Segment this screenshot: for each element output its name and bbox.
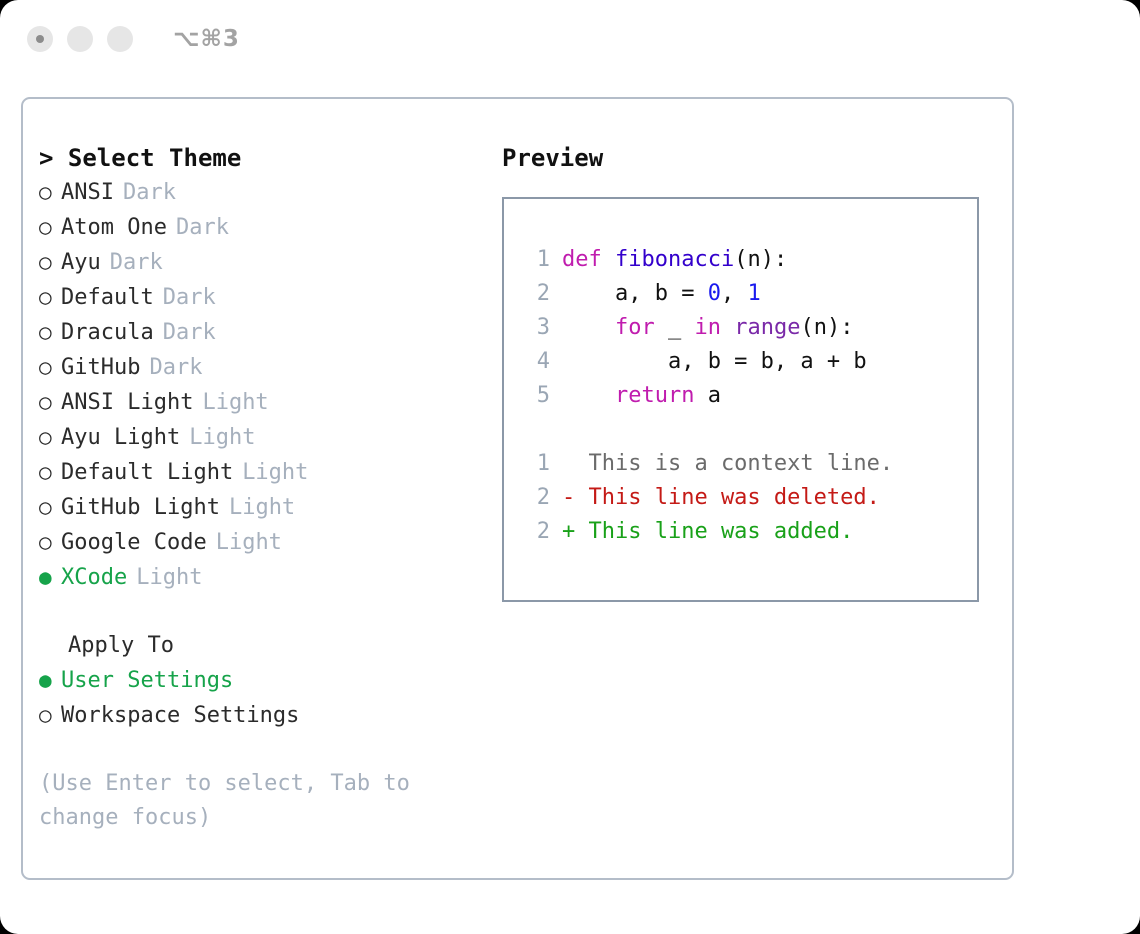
radio-selected-icon: ● [39, 663, 61, 697]
theme-option-default-light[interactable]: ○Default LightLight [39, 455, 479, 490]
code-token: _ [655, 315, 695, 340]
diff-preview: 1 This is a context line.2- This line wa… [504, 447, 977, 549]
code-preview: 1def fibonacci(n):2 a, b = 0, 13 for _ i… [504, 243, 977, 413]
theme-option-ayu[interactable]: ○AyuDark [39, 245, 479, 280]
code-token: range [734, 315, 800, 340]
code-line-content: return a [562, 379, 721, 413]
radio-unselected-icon: ○ [39, 698, 61, 732]
theme-option-kind: Light [189, 421, 255, 455]
code-diff-spacer [504, 413, 977, 447]
apply-to-option-user-settings[interactable]: ●User Settings [39, 663, 479, 698]
radio-unselected-icon: ○ [39, 525, 61, 559]
theme-option-kind: Dark [163, 316, 216, 350]
code-token: 1 [747, 281, 760, 306]
theme-list[interactable]: ○ANSIDark○Atom OneDark○AyuDark○DefaultDa… [39, 175, 479, 595]
theme-option-xcode[interactable]: ●XCodeLight [39, 560, 479, 595]
theme-option-kind: Light [242, 456, 308, 490]
line-number: 2 [522, 277, 550, 311]
code-token [562, 383, 615, 408]
code-line: 5 return a [504, 379, 977, 413]
code-token: , [721, 281, 748, 306]
radio-unselected-icon: ○ [39, 385, 61, 419]
code-token: return [615, 383, 694, 408]
line-number: 1 [522, 243, 550, 277]
code-line: 1def fibonacci(n): [504, 243, 977, 277]
theme-option-dracula[interactable]: ○DraculaDark [39, 315, 479, 350]
theme-option-kind: Dark [149, 351, 202, 385]
code-token: a [694, 383, 721, 408]
apply-to-option-label: Workspace Settings [61, 699, 299, 733]
line-number: 5 [522, 379, 550, 413]
code-token: for [615, 315, 655, 340]
radio-unselected-icon: ○ [39, 455, 61, 489]
theme-option-label: Default [61, 281, 154, 315]
radio-selected-icon: ● [39, 560, 61, 594]
radio-unselected-icon: ○ [39, 350, 61, 384]
theme-option-github-light[interactable]: ○GitHub LightLight [39, 490, 479, 525]
code-line-content: - This line was deleted. [562, 481, 880, 515]
code-token [721, 315, 734, 340]
theme-option-label: Default Light [61, 456, 233, 490]
code-token [562, 315, 615, 340]
radio-unselected-icon: ○ [39, 420, 61, 454]
theme-option-google-code[interactable]: ○Google CodeLight [39, 525, 479, 560]
code-token: a, b = [562, 281, 708, 306]
code-token: a, b = b, a + b [562, 349, 867, 374]
theme-option-kind: Light [136, 561, 202, 595]
code-token: (n): [734, 247, 787, 272]
traffic-light-close-icon[interactable] [27, 26, 53, 52]
theme-option-label: Google Code [61, 526, 207, 560]
code-token: 0 [708, 281, 721, 306]
select-theme-heading: > Select Theme [39, 141, 479, 175]
code-token: (n): [800, 315, 853, 340]
apply-to-heading: Apply To [39, 629, 479, 663]
window-titlebar: ⌥⌘3 [0, 0, 1140, 78]
theme-option-kind: Light [229, 491, 295, 525]
apply-to-list[interactable]: ●User Settings○Workspace Settings [39, 663, 479, 733]
code-line-content: a, b = b, a + b [562, 345, 867, 379]
keyboard-hint-text: (Use Enter to select, Tab to change focu… [39, 767, 449, 835]
app-window: ⌥⌘3 > Select Theme ○ANSIDark○Atom OneDar… [0, 0, 1140, 934]
code-line: 4 a, b = b, a + b [504, 345, 977, 379]
radio-unselected-icon: ○ [39, 315, 61, 349]
theme-selector-column: > Select Theme ○ANSIDark○Atom OneDark○Ay… [39, 141, 479, 835]
main-panel: > Select Theme ○ANSIDark○Atom OneDark○Ay… [21, 97, 1014, 880]
code-token: def [562, 247, 615, 272]
code-line-content: for _ in range(n): [562, 311, 853, 345]
code-line-content: + This line was added. [562, 515, 853, 549]
theme-option-kind: Dark [176, 211, 229, 245]
code-token: + This line was added. [562, 519, 853, 544]
keyboard-shortcut-label: ⌥⌘3 [173, 26, 240, 52]
line-number: 3 [522, 311, 550, 345]
theme-option-label: Atom One [61, 211, 167, 245]
code-line-content: a, b = 0, 1 [562, 277, 761, 311]
code-line: 2- This line was deleted. [504, 481, 977, 515]
code-line: 1 This is a context line. [504, 447, 977, 481]
code-line-content: def fibonacci(n): [562, 243, 787, 277]
radio-unselected-icon: ○ [39, 245, 61, 279]
theme-option-label: GitHub Light [61, 491, 220, 525]
line-number: 1 [522, 447, 550, 481]
section-spacer [39, 595, 479, 629]
preview-box: 1def fibonacci(n):2 a, b = 0, 13 for _ i… [502, 197, 979, 602]
hint-spacer [39, 733, 479, 767]
theme-option-label: Dracula [61, 316, 154, 350]
code-token: fibonacci [615, 247, 734, 272]
theme-option-atom-one[interactable]: ○Atom OneDark [39, 210, 479, 245]
theme-option-kind: Light [202, 386, 268, 420]
traffic-light-zoom-icon[interactable] [107, 26, 133, 52]
theme-option-github[interactable]: ○GitHubDark [39, 350, 479, 385]
theme-option-kind: Dark [123, 176, 176, 210]
code-token: - This line was deleted. [562, 485, 880, 510]
code-line: 2+ This line was added. [504, 515, 977, 549]
theme-option-label: ANSI [61, 176, 114, 210]
preview-column: Preview 1def fibonacci(n):2 a, b = 0, 13… [502, 141, 982, 602]
radio-unselected-icon: ○ [39, 210, 61, 244]
theme-option-kind: Light [216, 526, 282, 560]
theme-option-ayu-light[interactable]: ○Ayu LightLight [39, 420, 479, 455]
theme-option-label: ANSI Light [61, 386, 193, 420]
apply-to-option-workspace-settings[interactable]: ○Workspace Settings [39, 698, 479, 733]
code-token: This is a context line. [562, 451, 893, 476]
theme-option-label: XCode [61, 561, 127, 595]
preview-heading: Preview [502, 141, 982, 175]
theme-option-kind: Dark [110, 246, 163, 280]
theme-option-label: Ayu [61, 246, 101, 280]
apply-to-option-label: User Settings [61, 664, 233, 698]
code-line: 2 a, b = 0, 1 [504, 277, 977, 311]
code-token: in [694, 315, 721, 340]
code-line: 3 for _ in range(n): [504, 311, 977, 345]
theme-option-kind: Dark [163, 281, 216, 315]
line-number: 2 [522, 515, 550, 549]
line-number: 4 [522, 345, 550, 379]
theme-option-label: Ayu Light [61, 421, 180, 455]
line-number: 2 [522, 481, 550, 515]
theme-option-ansi[interactable]: ○ANSIDark [39, 175, 479, 210]
traffic-light-minimize-icon[interactable] [67, 26, 93, 52]
radio-unselected-icon: ○ [39, 490, 61, 524]
theme-option-label: GitHub [61, 351, 140, 385]
theme-option-default[interactable]: ○DefaultDark [39, 280, 479, 315]
radio-unselected-icon: ○ [39, 280, 61, 314]
radio-unselected-icon: ○ [39, 175, 61, 209]
theme-option-ansi-light[interactable]: ○ANSI LightLight [39, 385, 479, 420]
code-line-content: This is a context line. [562, 447, 893, 481]
